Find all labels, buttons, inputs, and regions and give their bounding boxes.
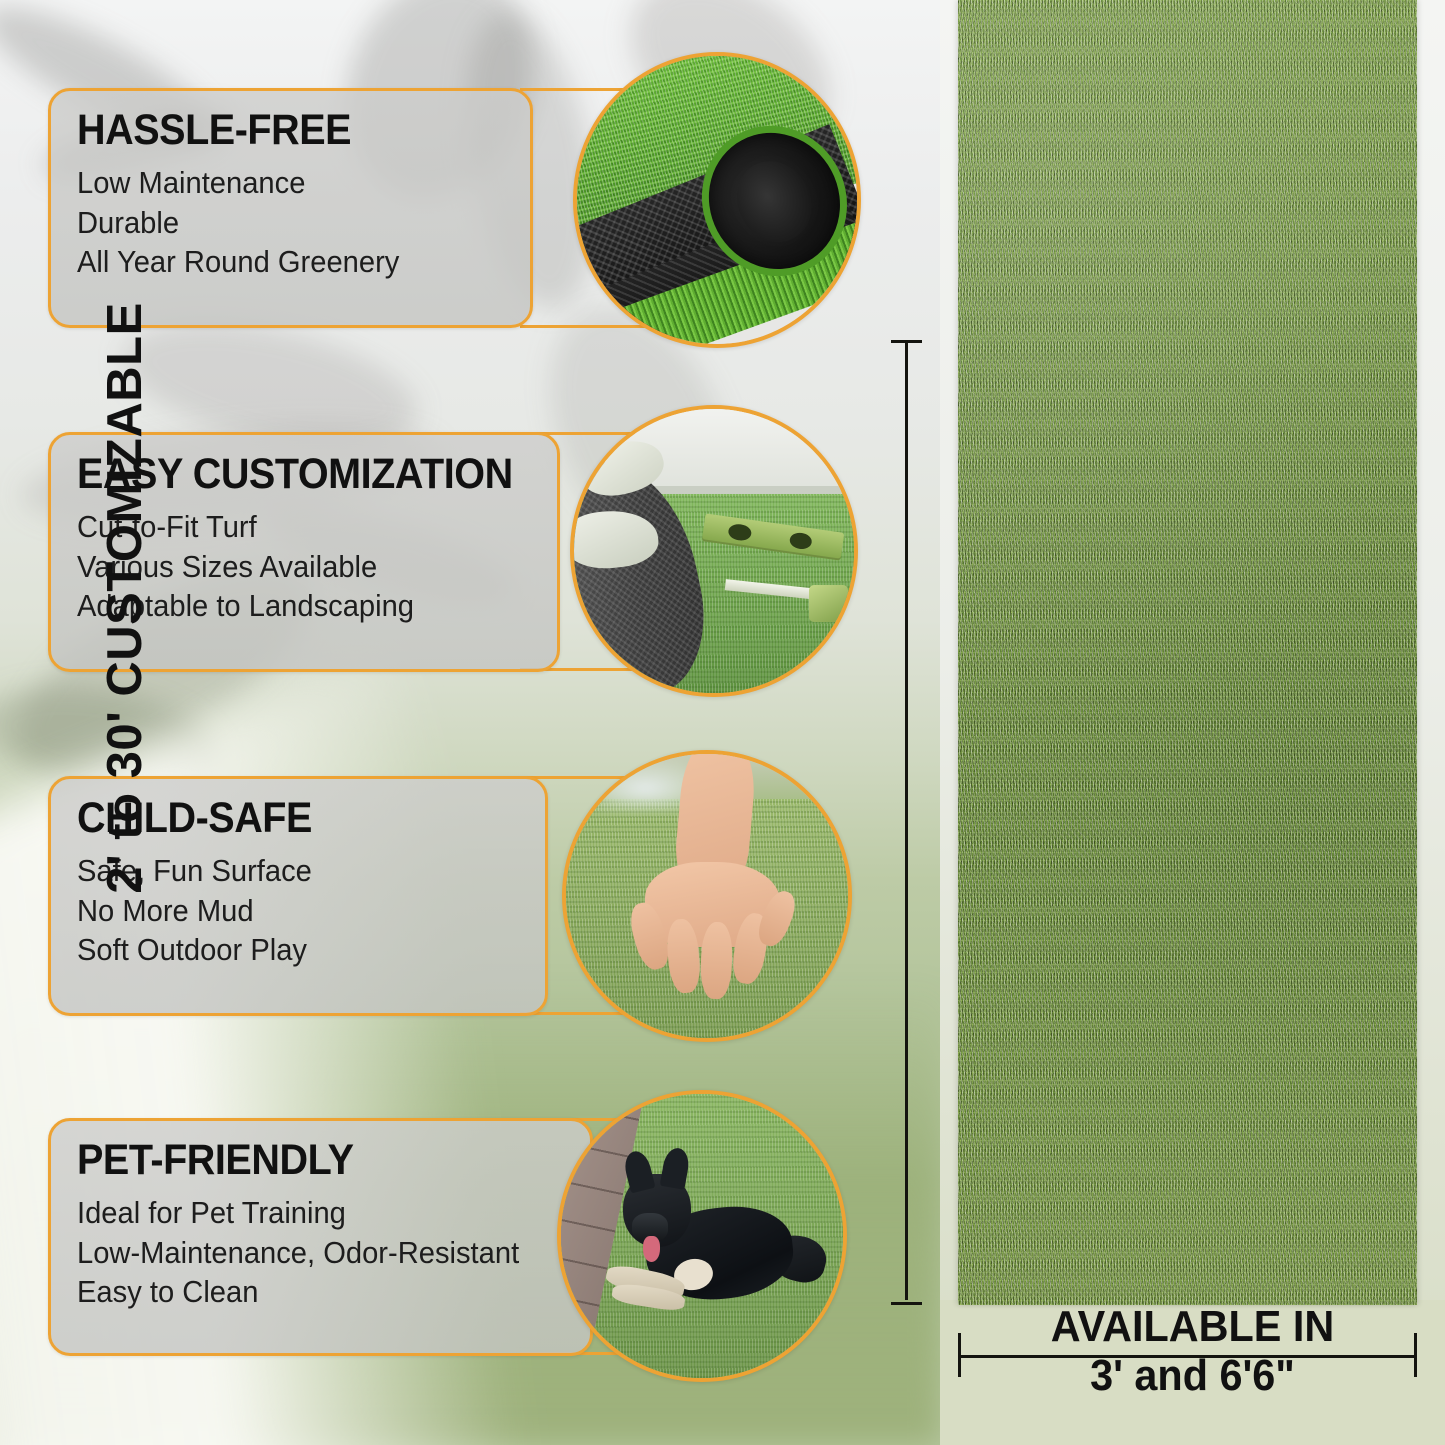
feature-line: Soft Outdoor Play	[77, 930, 492, 970]
length-measure-label: 2' to 30' CUSTOMIZABLE	[97, 268, 153, 928]
width-measure-label-group: AVAILABLE IN 3' and 6'6"	[940, 1305, 1445, 1399]
feature-line: Durable	[77, 203, 478, 243]
feature-line: Easy to Clean	[77, 1272, 535, 1312]
infographic-root: HASSLE-FREE Low Maintenance Durable All …	[0, 0, 1445, 1445]
turf-swatch-panel	[958, 0, 1417, 1305]
available-in-label: AVAILABLE IN	[955, 1305, 1430, 1349]
available-sizes-label: 3' and 6'6"	[955, 1353, 1430, 1399]
feature-title: HASSLE-FREE	[77, 109, 470, 153]
turf-grain-overlay	[958, 0, 1417, 1305]
feature-image-rolled-turf-sample	[573, 52, 861, 348]
length-measure-tick-bottom	[891, 1302, 922, 1305]
feature-line: Low Maintenance	[77, 163, 478, 203]
feature-image-turf-installation	[570, 405, 858, 697]
feature-image-dog-on-turf	[557, 1090, 847, 1382]
feature-line: Ideal for Pet Training	[77, 1193, 535, 1233]
length-measure-line	[905, 340, 908, 1300]
feature-line: Low-Maintenance, Odor-Resistant	[77, 1233, 535, 1273]
feature-image-child-hand-on-turf	[562, 750, 852, 1042]
feature-title: PET-FRIENDLY	[77, 1139, 525, 1183]
feature-card-pet-friendly: PET-FRIENDLY Ideal for Pet Training Low-…	[48, 1118, 593, 1356]
